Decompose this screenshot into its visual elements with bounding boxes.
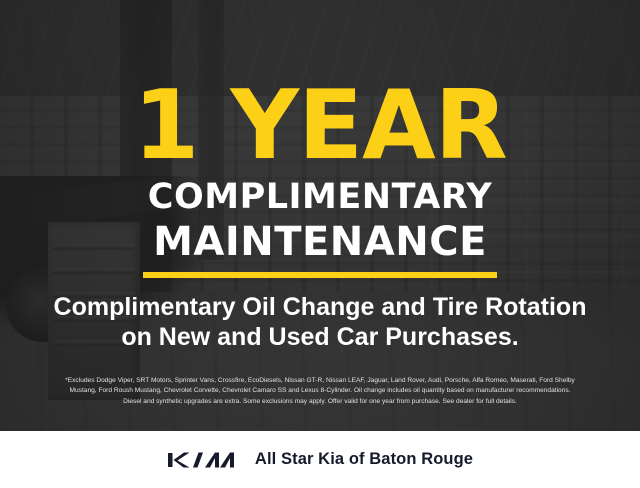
offer-text-line1: Complimentary Oil Change and Tire Rotati… <box>0 292 640 322</box>
headline-maintenance: MAINTENANCE <box>0 222 640 262</box>
disclaimer-line-2: Mustang, Ford Roush Mustang, Chevrolet C… <box>14 386 626 396</box>
promotional-banner: 1 YEAR COMPLIMENTARY MAINTENANCE Complim… <box>0 0 640 488</box>
disclaimer-line-3: Diesel and synthetic upgrades are extra.… <box>14 397 626 407</box>
kia-logo-icon <box>167 450 237 470</box>
offer-text-line2: on New and Used Car Purchases. <box>0 322 640 352</box>
disclaimer-text: *Excludes Dodge Viper, SRT Motors, Sprin… <box>14 376 626 407</box>
dealer-name: All Star Kia of Baton Rouge <box>255 450 473 469</box>
yellow-divider-bar <box>143 272 497 278</box>
banner-footer: All Star Kia of Baton Rouge <box>0 431 640 488</box>
disclaimer-line-1: *Excludes Dodge Viper, SRT Motors, Sprin… <box>14 376 626 386</box>
banner-content: 1 YEAR COMPLIMENTARY MAINTENANCE Complim… <box>0 0 640 488</box>
headline-year: 1 YEAR <box>0 79 640 174</box>
headline-complimentary: COMPLIMENTARY <box>0 180 640 215</box>
